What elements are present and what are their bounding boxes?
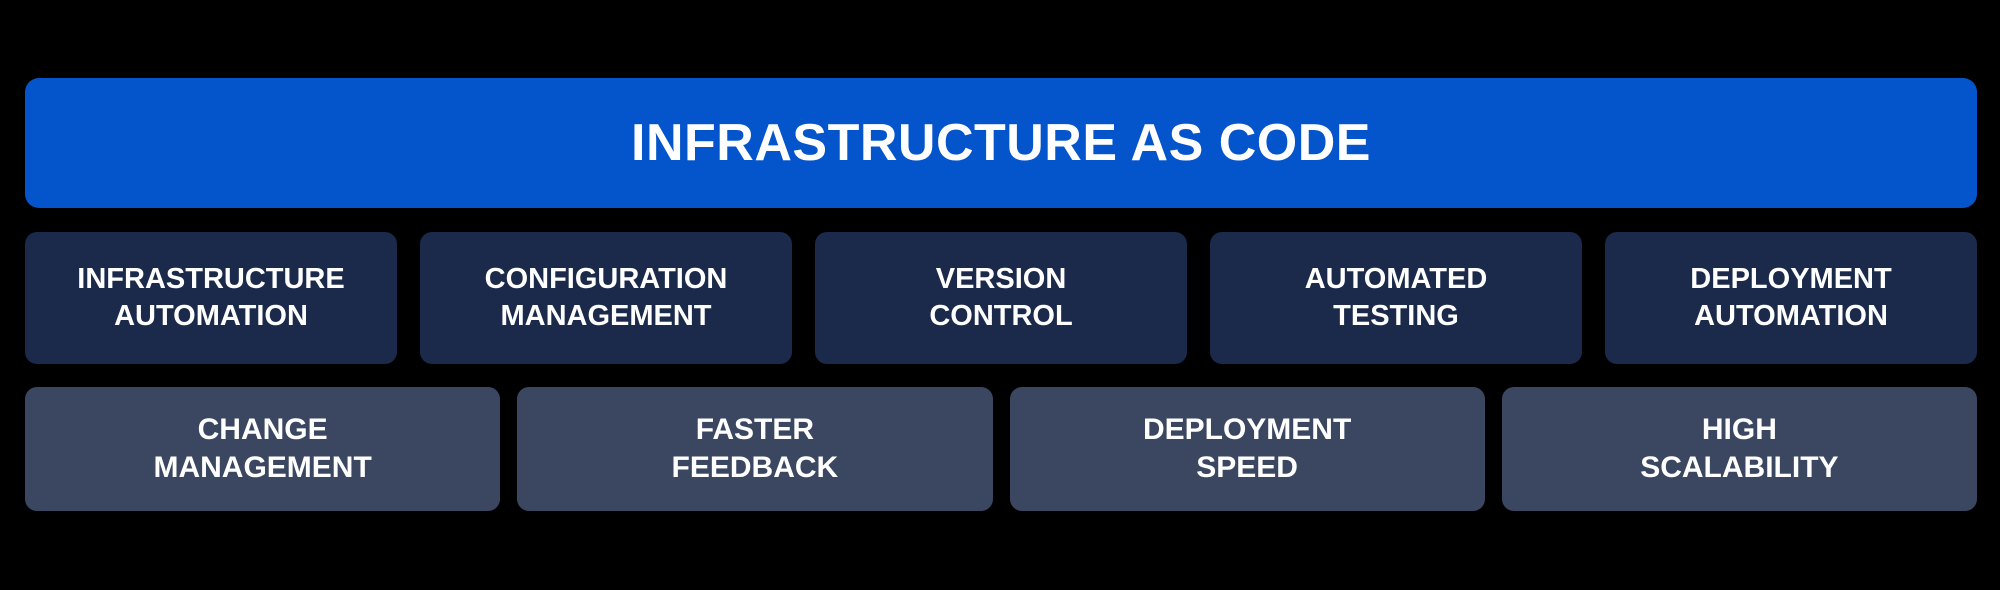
component-card-version-control[interactable]: VERSION CONTROL — [815, 232, 1187, 364]
card-label: INFRASTRUCTURE AUTOMATION — [67, 261, 354, 335]
component-card-configuration-management[interactable]: CONFIGURATION MANAGEMENT — [420, 232, 792, 364]
card-label: CONFIGURATION MANAGEMENT — [475, 261, 738, 335]
outcome-card-high-scalability[interactable]: HIGH SCALABILITY — [1502, 387, 1977, 511]
card-label: DEPLOYMENT SPEED — [1133, 411, 1361, 488]
card-label: VERSION CONTROL — [919, 261, 1082, 335]
components-row: INFRASTRUCTURE AUTOMATION CONFIGURATION … — [25, 232, 1977, 364]
component-card-infrastructure-automation[interactable]: INFRASTRUCTURE AUTOMATION — [25, 232, 397, 364]
card-label: DEPLOYMENT AUTOMATION — [1680, 261, 1901, 335]
component-card-automated-testing[interactable]: AUTOMATED TESTING — [1210, 232, 1582, 364]
outcome-card-deployment-speed[interactable]: DEPLOYMENT SPEED — [1010, 387, 1485, 511]
card-label: HIGH SCALABILITY — [1630, 411, 1848, 488]
outcomes-row: CHANGE MANAGEMENT FASTER FEEDBACK DEPLOY… — [25, 387, 1977, 511]
outcome-card-faster-feedback[interactable]: FASTER FEEDBACK — [517, 387, 992, 511]
card-label: FASTER FEEDBACK — [662, 411, 849, 488]
component-card-deployment-automation[interactable]: DEPLOYMENT AUTOMATION — [1605, 232, 1977, 364]
card-label: CHANGE MANAGEMENT — [143, 411, 381, 488]
outcome-card-change-management[interactable]: CHANGE MANAGEMENT — [25, 387, 500, 511]
infrastructure-as-code-diagram: INFRASTRUCTURE AS CODE INFRASTRUCTURE AU… — [0, 0, 2000, 590]
card-label: AUTOMATED TESTING — [1295, 261, 1498, 335]
page-title: INFRASTRUCTURE AS CODE — [631, 116, 1371, 171]
header-banner: INFRASTRUCTURE AS CODE — [25, 78, 1977, 208]
